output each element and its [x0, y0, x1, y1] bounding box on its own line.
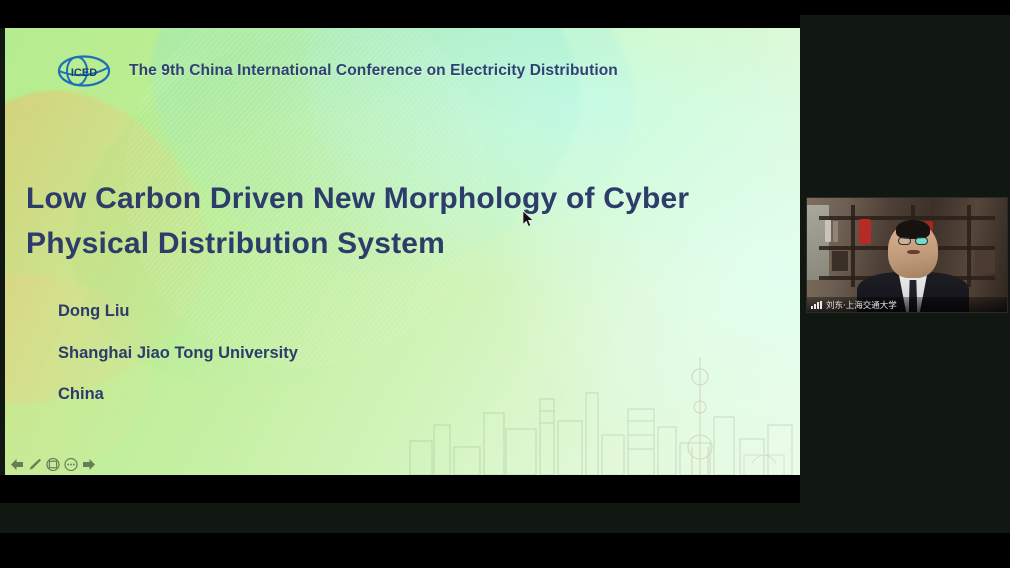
participant-name-label: 刘东·上海交通大学 [807, 297, 1007, 312]
glasses-lens-left [898, 237, 910, 244]
signal-bars-icon [811, 301, 822, 309]
participant-hair [896, 220, 930, 239]
shelf-box [975, 250, 995, 273]
conference-title: The 9th China International Conference o… [129, 62, 618, 80]
shelf-book [833, 221, 838, 243]
participant-head [888, 223, 937, 278]
shanghai-skyline-watermark [400, 355, 800, 475]
slide-title-line-2: Physical Distribution System [26, 221, 766, 266]
presenter-name: Dong Liu [58, 303, 298, 320]
iced-logo-icon: ICED [55, 54, 117, 88]
author-block: Dong Liu Shanghai Jiao Tong University C… [58, 303, 298, 428]
slide-title-line-1: Low Carbon Driven New Morphology of Cybe… [26, 182, 689, 215]
slide-header: ICED The 9th China International Confere… [55, 54, 618, 88]
presenter-toolbar[interactable] [9, 457, 96, 472]
previous-slide-button[interactable] [9, 457, 24, 472]
letterbox-right-top [800, 0, 1010, 15]
presenter-affiliation: Shanghai Jiao Tong University [58, 345, 298, 362]
svg-text:ICED: ICED [71, 67, 97, 79]
pen-icon [28, 458, 42, 471]
more-options-button[interactable] [63, 457, 78, 472]
shared-presentation-slide[interactable]: ICED The 9th China International Confere… [5, 28, 800, 475]
participant-glasses [898, 237, 928, 244]
letterbox-far-bottom [0, 533, 1010, 568]
slide-menu-button[interactable] [45, 457, 60, 472]
screen-root: ICED The 9th China International Confere… [0, 0, 1010, 568]
next-slide-button[interactable] [81, 457, 96, 472]
pen-tool-button[interactable] [27, 457, 42, 472]
arrow-left-icon [10, 458, 24, 471]
letterbox-top [0, 0, 800, 28]
shelf-divider-3 [967, 205, 971, 287]
ellipsis-icon [64, 458, 78, 471]
participant-video-tile[interactable]: 刘东·上海交通大学 [806, 197, 1008, 313]
mouse-pointer-icon [522, 210, 535, 228]
shelf-picture-frame [831, 250, 849, 272]
letterbox-bottom [0, 475, 800, 503]
shelf-book [825, 220, 831, 243]
participant-name-text: 刘东·上海交通大学 [826, 299, 897, 311]
arrow-right-icon [82, 458, 96, 471]
shelf-divider-1 [851, 205, 855, 287]
glasses-lens-right [915, 237, 927, 244]
slides-grid-icon [46, 458, 60, 471]
participant-mouth [907, 250, 920, 254]
presenter-country: China [58, 386, 298, 403]
slide-title: Low Carbon Driven New Morphology of Cybe… [26, 176, 766, 266]
